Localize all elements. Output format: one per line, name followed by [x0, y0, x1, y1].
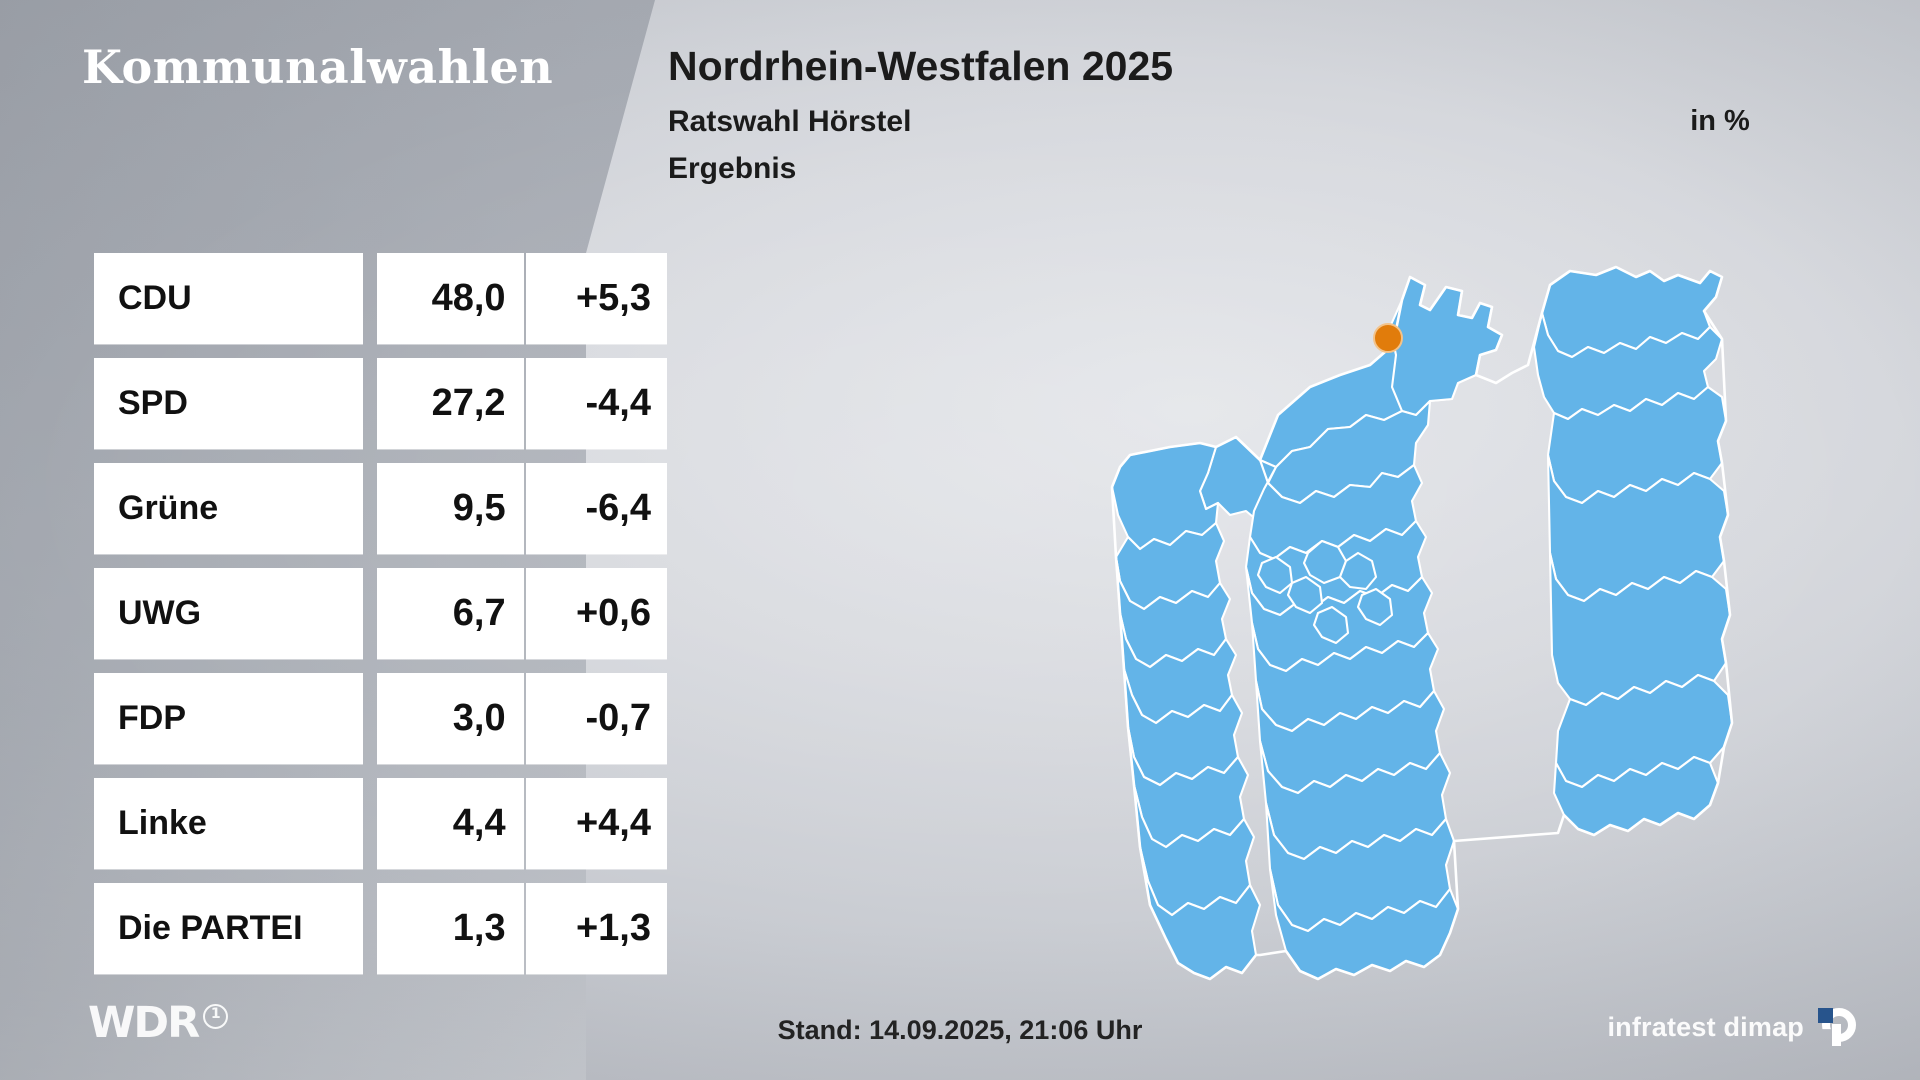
table-row: Die PARTEI 1,3 +1,3: [94, 883, 667, 974]
party-name: FDP: [94, 673, 363, 764]
party-name: Grüne: [94, 463, 363, 554]
brand-title: Kommunalwahlen: [82, 40, 553, 94]
table-row: Grüne 9,5 -6,4: [94, 463, 667, 554]
table-row: CDU 48,0 +5,3: [94, 253, 667, 344]
party-share: 1,3: [377, 883, 523, 974]
party-change: +4,4: [526, 778, 667, 869]
party-change: +0,6: [526, 568, 667, 659]
table-row: UWG 6,7 +0,6: [94, 568, 667, 659]
party-share: 48,0: [377, 253, 523, 344]
party-share: 4,4: [377, 778, 523, 869]
party-name: CDU: [94, 253, 363, 344]
election-result-graphic: Kommunalwahlen Nordrhein-Westfalen 2025 …: [0, 0, 1920, 1080]
region-title: Nordrhein-Westfalen 2025: [668, 43, 1173, 90]
logo-stem-shape: [1832, 1024, 1841, 1046]
election-name: Ratswahl Hörstel: [668, 105, 911, 139]
results-table: CDU 48,0 +5,3 SPD 27,2 -4,4 Grüne 9,5 -6…: [94, 253, 667, 974]
table-row: Linke 4,4 +4,4: [94, 778, 667, 869]
region-map: [1010, 215, 1770, 1005]
party-name: UWG: [94, 568, 363, 659]
party-name: Die PARTEI: [94, 883, 363, 974]
party-change: +5,3: [526, 253, 667, 344]
infratest-dimap-wordmark: infratest dimap: [1607, 1012, 1804, 1043]
party-name: SPD: [94, 358, 363, 449]
stage-label: Ergebnis: [668, 152, 796, 186]
infratest-dimap-logo: infratest dimap: [1607, 1008, 1856, 1046]
party-change: -0,7: [526, 673, 667, 764]
map-marker-hoerstel[interactable]: [1374, 324, 1402, 352]
party-name: Linke: [94, 778, 363, 869]
logo-square-shape: [1818, 1008, 1833, 1023]
map-districts: [1112, 267, 1732, 979]
party-change: -6,4: [526, 463, 667, 554]
infratest-dimap-symbol-icon: [1818, 1008, 1856, 1046]
table-row: SPD 27,2 -4,4: [94, 358, 667, 449]
party-share: 3,0: [377, 673, 523, 764]
party-change: -4,4: [526, 358, 667, 449]
party-change: +1,3: [526, 883, 667, 974]
party-share: 6,7: [377, 568, 523, 659]
party-share: 9,5: [377, 463, 523, 554]
party-share: 27,2: [377, 358, 523, 449]
unit-label: in %: [1610, 105, 1830, 138]
table-row: FDP 3,0 -0,7: [94, 673, 667, 764]
